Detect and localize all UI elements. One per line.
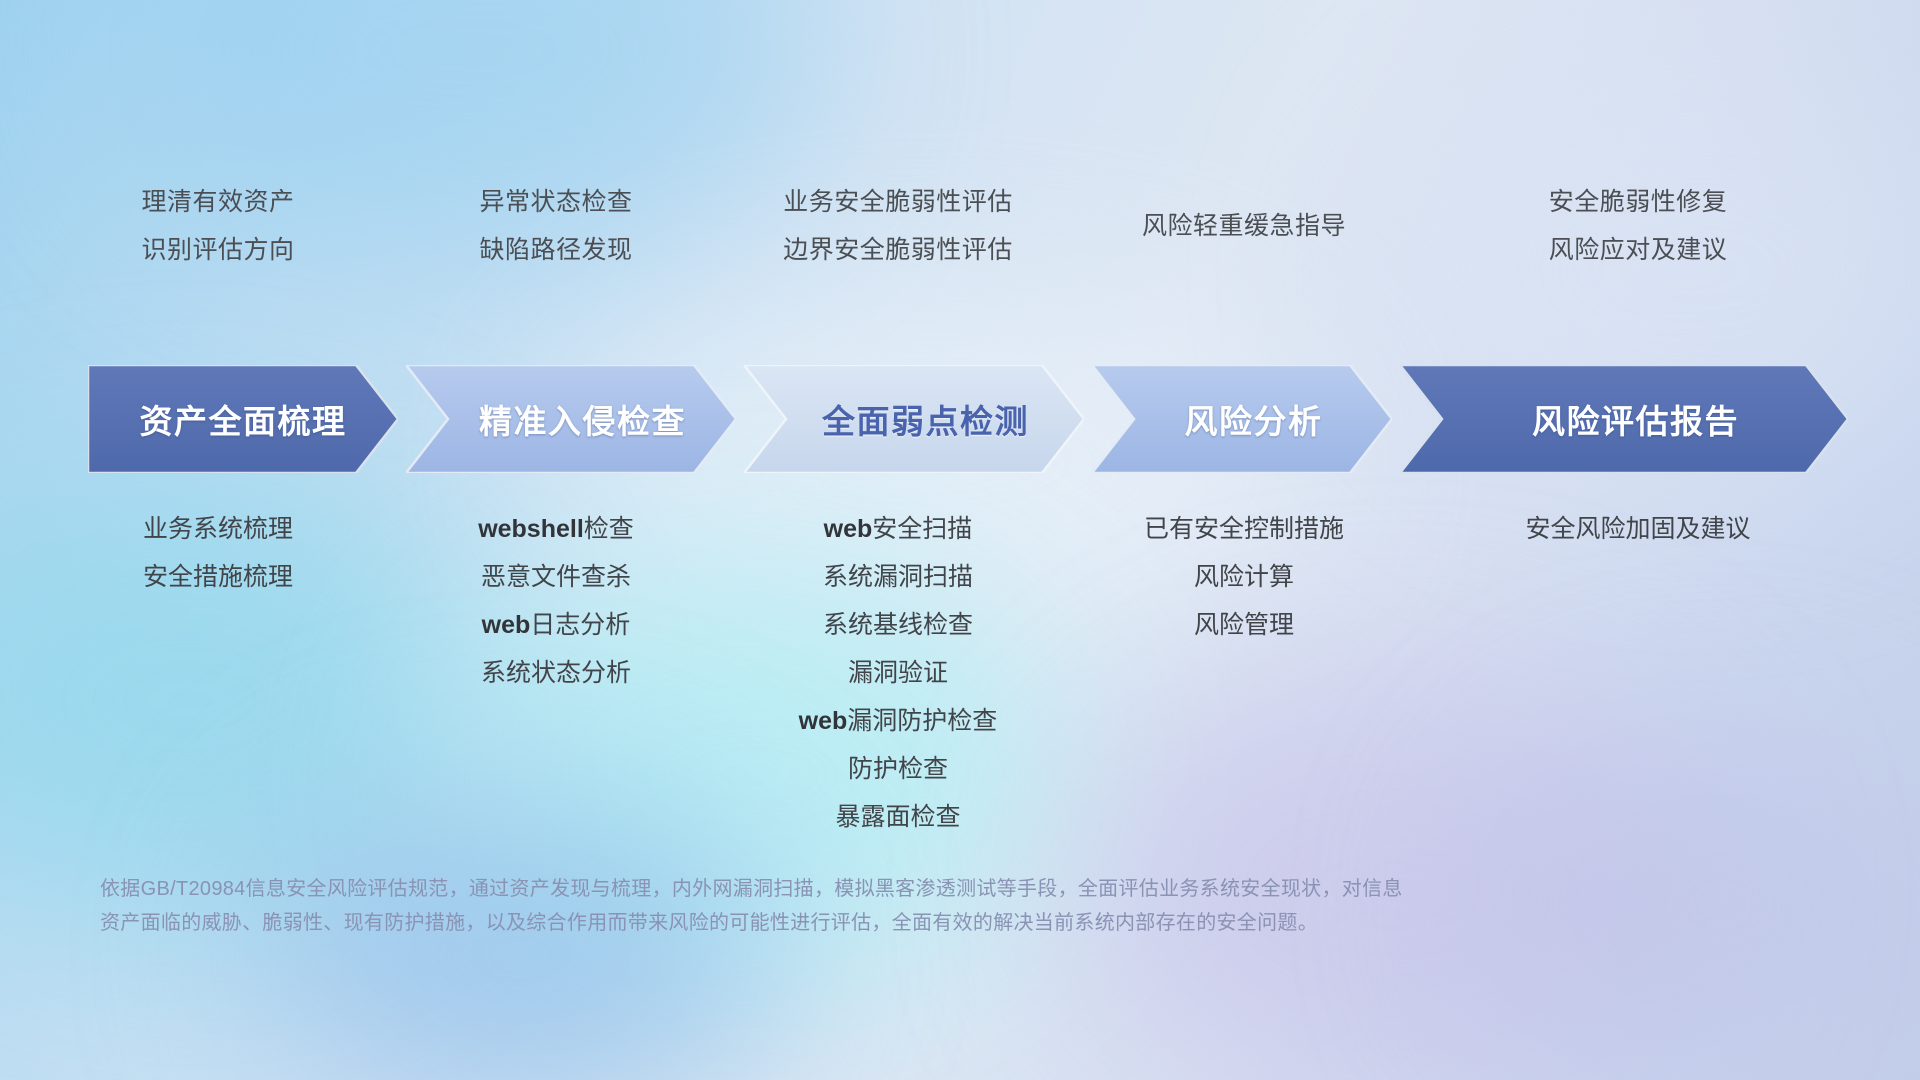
detail-column-risk-analysis: 已有安全控制措施风险计算风险管理 (1034, 505, 1454, 649)
detail-item: 防护检查 (688, 745, 1108, 793)
footer-line-2: 资产面临的威胁、脆弱性、现有防护措施，以及综合作用而带来风险的可能性进行评估，全… (100, 906, 1600, 940)
footer-description: 依据GB/T20984信息安全风险评估规范，通过资产发现与梳理，内外网漏洞扫描，… (100, 872, 1600, 940)
top-annotations-row: 理清有效资产识别评估方向异常状态检查缺陷路径发现业务安全脆弱性评估边界安全脆弱性… (0, 178, 1920, 278)
top-note-line: 风险轻重缓急指导 (1034, 202, 1454, 250)
process-chevron-banner: 资产全面梳理精准入侵检查全面弱点检测风险分析风险评估报告 (88, 365, 1848, 473)
stage-chevron-weakness-detection[interactable]: 全面弱点检测 (744, 365, 1084, 473)
detail-item: 安全风险加固及建议 (1428, 505, 1848, 553)
detail-item: 漏洞验证 (688, 649, 1108, 697)
stage-chevron-risk-analysis[interactable]: 风险分析 (1092, 365, 1392, 473)
stage-label-intrusion-check: 精准入侵检查 (479, 395, 686, 443)
top-note-line: 安全脆弱性修复 (1428, 178, 1848, 226)
detail-item: web漏洞防护检查 (688, 697, 1108, 745)
detail-item: 暴露面检查 (688, 793, 1108, 841)
detail-item: 已有安全控制措施 (1034, 505, 1454, 553)
detail-item: 风险计算 (1034, 553, 1454, 601)
top-note-line: 风险应对及建议 (1428, 226, 1848, 274)
stage-label-asset-inventory: 资产全面梳理 (140, 395, 347, 443)
stage-label-risk-report: 风险评估报告 (1532, 395, 1739, 443)
top-notes-risk-report: 安全脆弱性修复风险应对及建议 (1428, 178, 1848, 274)
stage-chevron-risk-report[interactable]: 风险评估报告 (1400, 365, 1848, 473)
top-notes-risk-analysis: 风险轻重缓急指导 (1034, 202, 1454, 250)
stage-label-weakness-detection: 全面弱点检测 (822, 395, 1029, 443)
stage-chevron-intrusion-check[interactable]: 精准入侵检查 (406, 365, 736, 473)
detail-item: 风险管理 (1034, 601, 1454, 649)
footer-line-1: 依据GB/T20984信息安全风险评估规范，通过资产发现与梳理，内外网漏洞扫描，… (100, 872, 1600, 906)
stage-label-risk-analysis: 风险分析 (1185, 395, 1323, 443)
detail-column-risk-report: 安全风险加固及建议 (1428, 505, 1848, 553)
slide-content: 理清有效资产识别评估方向异常状态检查缺陷路径发现业务安全脆弱性评估边界安全脆弱性… (0, 0, 1920, 1080)
stage-chevron-asset-inventory[interactable]: 资产全面梳理 (88, 365, 398, 473)
